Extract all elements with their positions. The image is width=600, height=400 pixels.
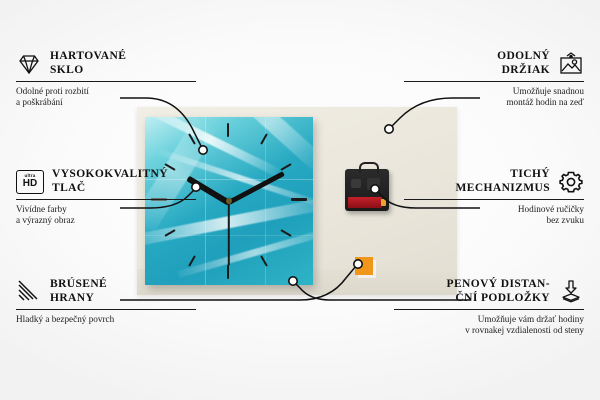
infographic-canvas: HARTOVANÉ SKLO Odolné proti rozbití a po…: [0, 0, 600, 400]
feature-description: Vivídne farby a výrazný obraz: [16, 204, 196, 227]
foam-spacer-icon: [558, 280, 584, 304]
divider: [16, 199, 196, 200]
feature-description: Umožňuje snadnou montáž hodin na zeď: [404, 86, 584, 109]
feature-description: Umožňuje vám držať hodiny v rovnakej vzd…: [394, 314, 584, 337]
feature-title: HARTOVANÉ SKLO: [50, 50, 126, 77]
feature-heading: TICHÝ MECHANIZMUS: [404, 168, 584, 195]
callout-marker: [354, 260, 362, 268]
feature-polished-edges: BRÚSENÉ HRANY Hladký a bezpečný povrch: [16, 278, 196, 325]
ultra-hd-icon: ultra HD: [16, 170, 44, 194]
feature-tempered-glass: HARTOVANÉ SKLO Odolné proti rozbití a po…: [16, 50, 196, 109]
gear-icon: [558, 170, 584, 194]
feature-description: Hladký a bezpečný povrch: [16, 314, 196, 325]
divider: [16, 81, 196, 82]
divider: [394, 309, 584, 310]
divider: [404, 81, 584, 82]
feature-title: PENOVÝ DISTAN- ČNÍ PODLOŽKY: [447, 278, 550, 305]
feature-heading: ODOLNÝ DRŽIAK: [404, 50, 584, 77]
feature-foam-spacers: PENOVÝ DISTAN- ČNÍ PODLOŽKY Umožňuje vám…: [394, 278, 584, 337]
feature-description: Hodinové ručičky bez zvuku: [404, 204, 584, 227]
feature-silent-mechanism: TICHÝ MECHANIZMUS Hodinové ručičky bez z…: [404, 168, 584, 227]
polished-edges-icon: [16, 280, 42, 304]
callout-marker: [289, 277, 297, 285]
feature-heading: PENOVÝ DISTAN- ČNÍ PODLOŽKY: [394, 278, 584, 305]
divider: [16, 309, 196, 310]
feature-heading: HARTOVANÉ SKLO: [16, 50, 196, 77]
feature-title: ODOLNÝ DRŽIAK: [497, 50, 550, 77]
feature-title: VYSOKOKVALITNÝ TLAČ: [52, 168, 168, 195]
feature-description: Odolné proti rozbití a poškrábání: [16, 86, 196, 109]
feature-durable-hanger: ODOLNÝ DRŽIAK Umožňuje snadnou montáž ho…: [404, 50, 584, 109]
feature-heading: ultra HD VYSOKOKVALITNÝ TLAČ: [16, 168, 196, 195]
callout-marker: [371, 185, 379, 193]
feature-heading: BRÚSENÉ HRANY: [16, 278, 196, 305]
diamond-icon: [16, 52, 42, 76]
feature-title: TICHÝ MECHANIZMUS: [456, 168, 551, 195]
callout-marker: [199, 146, 207, 154]
feature-title: BRÚSENÉ HRANY: [50, 278, 107, 305]
divider: [404, 199, 584, 200]
feature-high-quality-print: ultra HD VYSOKOKVALITNÝ TLAČ Vivídne far…: [16, 168, 196, 227]
callout-marker: [385, 125, 393, 133]
wall-mount-icon: [558, 52, 584, 76]
